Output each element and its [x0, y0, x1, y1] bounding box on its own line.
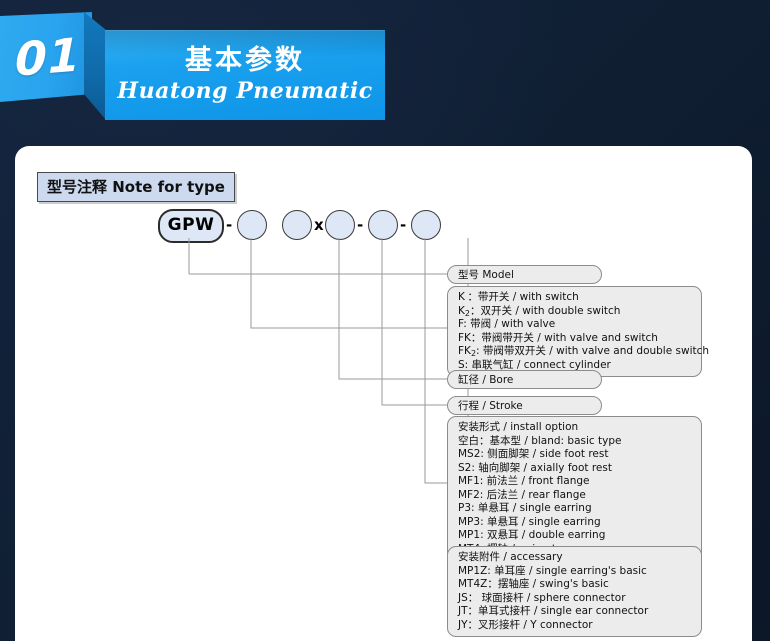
banner-title-chinese: 基本参数	[105, 38, 385, 77]
legend-line: 空白：基本型 / bland: basic type	[458, 435, 701, 449]
legend-line: MP1: 双悬耳 / double earring	[458, 529, 701, 543]
legend-model-box[interactable]: 型号 Model	[447, 265, 602, 284]
legend-line: MP1Z: 单耳座 / single earring's basic	[458, 565, 701, 579]
legend-line: FK：带阀带开关 / with valve and switch	[458, 332, 701, 346]
banner-section-number: 01	[8, 23, 88, 91]
legend-install-option-box[interactable]: 安装形式 / install option 空白：基本型 / bland: ba…	[447, 416, 702, 561]
legend-line: K ：带开关 / with switch	[458, 291, 701, 305]
legend-bore-box[interactable]: 缸径 / Bore	[447, 370, 602, 389]
legend-line: K2：双开关 / with double switch	[458, 305, 701, 319]
legend-line: MT4Z：摆轴座 / swing's basic	[458, 578, 701, 592]
legend-line: S2: 轴向脚架 / axially foot rest	[458, 462, 701, 476]
legend-line: F: 带阀 / with valve	[458, 318, 701, 332]
legend-line: JY：叉形接杆 / Y connector	[458, 619, 701, 633]
legend-accessary-box[interactable]: 安装附件 / accessary MP1Z: 单耳座 / single earr…	[447, 546, 702, 637]
legend-stroke-box[interactable]: 行程 / Stroke	[447, 396, 602, 415]
legend-line: 行程 / Stroke	[448, 397, 601, 413]
legend-line: MF2: 后法兰 / rear flange	[458, 489, 701, 503]
legend-line: 安装附件 / accessary	[458, 551, 701, 565]
legend-line: JT：单耳式接杆 / single ear connector	[458, 605, 701, 619]
banner-title-plate: 基本参数 Huatong Pneumatic	[105, 30, 385, 120]
legend-line: MP3: 单悬耳 / single earring	[458, 516, 701, 530]
legend-line: 安装形式 / install option	[458, 421, 701, 435]
legend-line: FK2: 带阀带双开关 / with valve and double swit…	[458, 345, 701, 359]
legend-line: 缸径 / Bore	[448, 371, 601, 387]
legend-line: MS2: 侧面脚架 / side foot rest	[458, 448, 701, 462]
legend-line: JS： 球面接杆 / sphere connector	[458, 592, 701, 606]
content-panel: 型号注释 Note for type GPW - x - -	[15, 146, 752, 641]
legend-line: 型号 Model	[448, 266, 601, 282]
banner-title-english: Huatong Pneumatic	[105, 78, 385, 104]
legend-switch-option-box[interactable]: K ：带开关 / with switch K2：双开关 / with doubl…	[447, 286, 702, 377]
section-banner: 01 基本参数 Huatong Pneumatic	[0, 12, 385, 120]
legend-line: P3: 单悬耳 / single earring	[458, 502, 701, 516]
legend-line: MF1: 前法兰 / front flange	[458, 475, 701, 489]
